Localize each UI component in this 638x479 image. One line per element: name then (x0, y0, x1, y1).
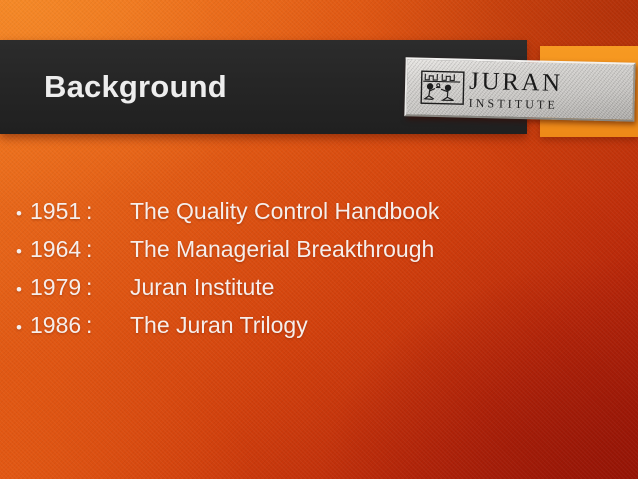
list-item-separator: : (86, 236, 130, 263)
logo-wordmark-primary: JURAN (469, 68, 634, 97)
egyptian-figures-icon (420, 70, 466, 106)
slide-bullet-list: • 1951 : The Quality Control Handbook • … (16, 198, 616, 350)
list-item-label: Juran Institute (130, 274, 274, 301)
list-item-year: 1951 (30, 198, 86, 225)
list-item: • 1951 : The Quality Control Handbook (16, 198, 616, 236)
list-item: • 1986 : The Juran Trilogy (16, 312, 616, 350)
logo-wordmark: JURAN INSTITUTE (469, 68, 634, 112)
list-item-year: 1986 (30, 312, 86, 339)
list-item-label: The Juran Trilogy (130, 312, 308, 339)
list-item: • 1979 : Juran Institute (16, 274, 616, 312)
bullet-icon: • (16, 319, 30, 336)
bullet-icon: • (16, 205, 30, 222)
list-item: • 1964 : The Managerial Breakthrough (16, 236, 616, 274)
list-item-label: The Managerial Breakthrough (130, 236, 434, 263)
list-item-separator: : (86, 274, 130, 301)
list-item-label: The Quality Control Handbook (130, 198, 439, 225)
presentation-slide: Background (0, 0, 638, 479)
list-item-separator: : (86, 198, 130, 225)
bullet-icon: • (16, 243, 30, 260)
page-title: Background (44, 40, 227, 134)
bullet-icon: • (16, 281, 30, 298)
logo-wordmark-secondary: INSTITUTE (469, 96, 633, 112)
list-item-year: 1964 (30, 236, 86, 263)
juran-institute-logo: JURAN INSTITUTE (404, 57, 635, 121)
list-item-separator: : (86, 312, 130, 339)
list-item-year: 1979 (30, 274, 86, 301)
